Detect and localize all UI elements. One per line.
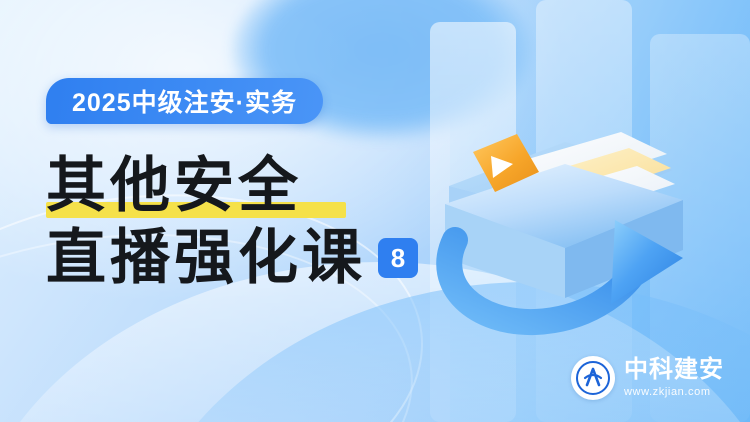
folder-with-arrow-illustration [415, 108, 715, 358]
headline-line-1: 其他安全 [46, 150, 446, 222]
brand-logo: 中科建安 www.zkjian.com [571, 356, 724, 400]
headline-line-2: 直播强化课 8 [46, 222, 446, 294]
zkjian-logo-icon [571, 356, 615, 400]
brand-url: www.zkjian.com [624, 387, 724, 398]
course-tag-pill: 2025中级注安·实务 [46, 78, 323, 124]
brand-name: 中科建安 [624, 358, 724, 382]
brand-logo-texts: 中科建安 www.zkjian.com [624, 358, 724, 398]
headline-block: 其他安全 直播强化课 8 [46, 150, 446, 294]
headline-text-2: 直播强化课 [46, 222, 366, 294]
headline-text-1: 其他安全 [46, 150, 302, 222]
episode-badge: 8 [378, 238, 418, 278]
course-promo-banner: 2025中级注安·实务 其他安全 直播强化课 8 中科建安 www.zkjian… [0, 0, 750, 422]
